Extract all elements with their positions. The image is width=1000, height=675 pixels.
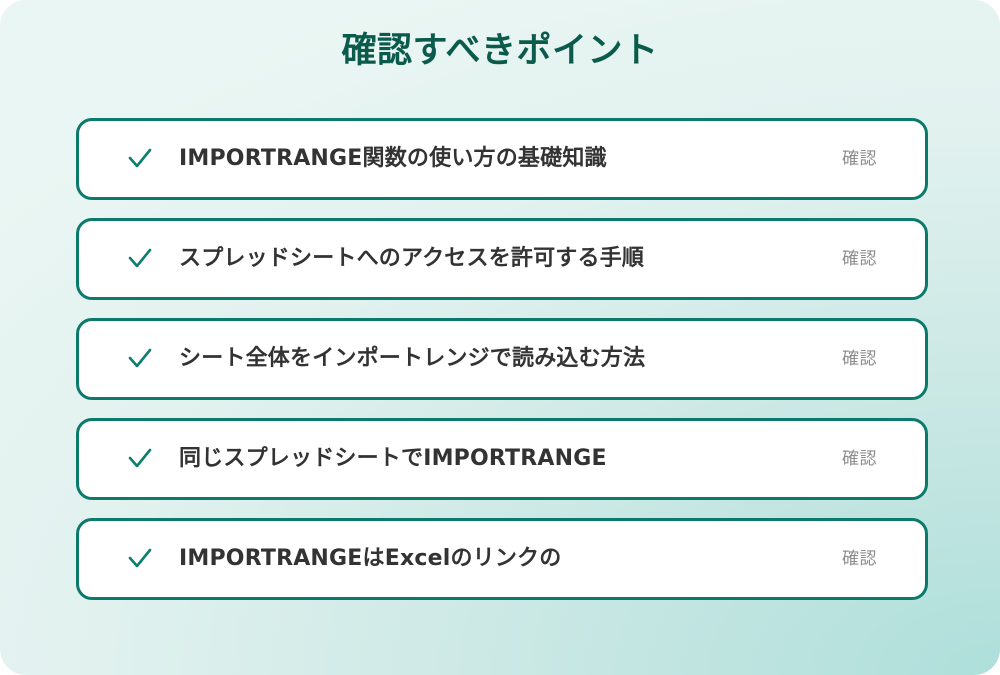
- check-icon: [123, 142, 157, 176]
- check-icon: [123, 542, 157, 576]
- list-item[interactable]: IMPORTRANGEはExcelのリンクの 確認: [76, 518, 928, 600]
- list-item-label: IMPORTRANGE関数の使い方の基礎知識: [179, 144, 824, 174]
- list-item-label: IMPORTRANGEはExcelのリンクの: [179, 544, 824, 574]
- checklist: IMPORTRANGE関数の使い方の基礎知識 確認 スプレッドシートへのアクセス…: [76, 118, 928, 600]
- list-item[interactable]: シート全体をインポートレンジで読み込む方法 確認: [76, 318, 928, 400]
- check-icon: [123, 342, 157, 376]
- confirm-link[interactable]: 確認: [842, 147, 903, 171]
- confirm-link[interactable]: 確認: [842, 547, 903, 571]
- checklist-panel: 確認すべきポイント IMPORTRANGE関数の使い方の基礎知識 確認 スプレッ…: [0, 0, 1000, 675]
- list-item[interactable]: IMPORTRANGE関数の使い方の基礎知識 確認: [76, 118, 928, 200]
- check-icon: [123, 442, 157, 476]
- list-item[interactable]: 同じスプレッドシートでIMPORTRANGE 確認: [76, 418, 928, 500]
- list-item-label: 同じスプレッドシートでIMPORTRANGE: [179, 444, 824, 474]
- list-item-label: スプレッドシートへのアクセスを許可する手順: [179, 244, 824, 274]
- list-item-label: シート全体をインポートレンジで読み込む方法: [179, 344, 824, 374]
- list-item[interactable]: スプレッドシートへのアクセスを許可する手順 確認: [76, 218, 928, 300]
- confirm-link[interactable]: 確認: [842, 347, 903, 371]
- page-title: 確認すべきポイント: [0, 28, 1000, 74]
- check-icon: [123, 242, 157, 276]
- confirm-link[interactable]: 確認: [842, 447, 903, 471]
- confirm-link[interactable]: 確認: [842, 247, 903, 271]
